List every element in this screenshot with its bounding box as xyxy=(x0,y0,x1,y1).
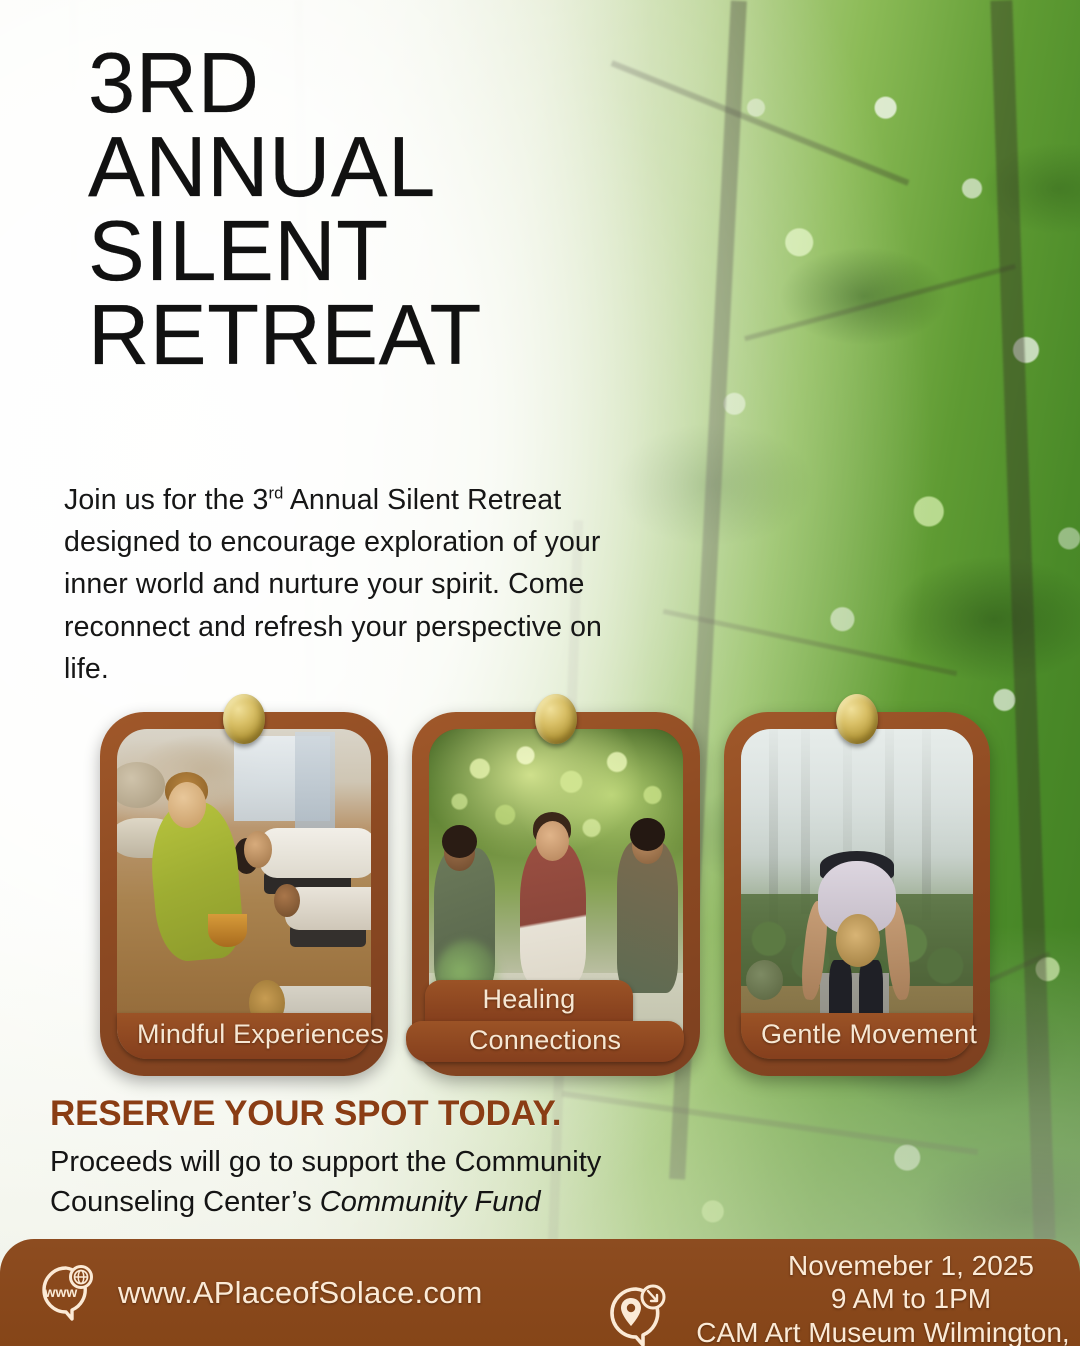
reserve-block: RESERVE YOUR SPOT TODAY. Proceeds will g… xyxy=(50,1094,730,1222)
footer-event-time: 9 AM to 1PM xyxy=(686,1282,1080,1315)
gold-pin-icon xyxy=(223,694,265,744)
card-label-gentle: Gentle Movement xyxy=(741,1013,973,1059)
photo-detail xyxy=(442,825,478,858)
svg-text:www: www xyxy=(44,1284,78,1300)
community-fund-emphasis: Community Fund xyxy=(320,1186,541,1218)
photo-detail xyxy=(746,960,783,1000)
poster-canvas: 3RD ANNUAL SILENT RETREAT Join us for th… xyxy=(0,0,1080,1346)
photo-detail xyxy=(168,782,206,828)
page-title: 3RD ANNUAL SILENT RETREAT xyxy=(88,42,482,379)
footer-event-details-group: Novemeber 1, 2025 9 AM to 1PM CAM Art Mu… xyxy=(600,1249,1080,1346)
photo-detail xyxy=(244,831,272,867)
card-photo-mindful xyxy=(117,729,371,1059)
card-photo-gentle xyxy=(741,729,973,1059)
ordinal-suffix: rd xyxy=(268,483,283,502)
card-label-mindful: Mindful Experiences xyxy=(117,1013,371,1059)
card-label-healing-line1: Healing xyxy=(425,980,633,1021)
footer-event-lines: Novemeber 1, 2025 9 AM to 1PM CAM Art Mu… xyxy=(686,1249,1080,1346)
reserve-heading: RESERVE YOUR SPOT TODAY. xyxy=(50,1094,730,1134)
photo-detail xyxy=(117,762,165,808)
photo-scene xyxy=(741,729,973,1059)
title-line-4: RETREAT xyxy=(88,294,482,378)
card-label-healing-line2: Connections xyxy=(406,1021,684,1062)
photo-detail xyxy=(259,828,371,878)
reserve-body: Proceeds will go to support the Communit… xyxy=(50,1142,730,1222)
map-pin-icon xyxy=(600,1278,670,1346)
card-label-healing: Healing Connections xyxy=(406,980,652,1062)
footer-event-venue: CAM Art Museum Wilmington, NC xyxy=(686,1316,1080,1346)
photo-detail xyxy=(836,914,880,967)
photo-detail xyxy=(295,732,336,838)
intro-paragraph: Join us for the 3rd Annual Silent Retrea… xyxy=(64,479,624,691)
footer-website-url[interactable]: www.APlaceofSolace.com xyxy=(118,1275,483,1311)
intro-text-pre: Join us for the 3 xyxy=(64,484,268,516)
photo-detail xyxy=(536,821,569,861)
photo-detail xyxy=(208,914,246,947)
footer-event-date: Novemeber 1, 2025 xyxy=(686,1249,1080,1282)
card-mindful-experiences[interactable]: Mindful Experiences xyxy=(100,712,388,1076)
footer-bar: www www.APlaceofSolace.com xyxy=(0,1239,1080,1346)
gold-pin-icon xyxy=(535,694,577,744)
gold-pin-icon xyxy=(836,694,878,744)
www-bubble-icon: www xyxy=(34,1259,96,1326)
card-gentle-movement[interactable]: Gentle Movement xyxy=(724,712,990,1076)
photo-card-row: Mindful Experiences xyxy=(0,712,1080,1080)
footer-website-group[interactable]: www www.APlaceofSolace.com xyxy=(34,1259,483,1326)
title-line-2: ANNUAL xyxy=(88,126,482,210)
photo-detail xyxy=(274,884,299,917)
title-line-1: 3RD xyxy=(88,42,482,126)
card-healing-connections[interactable]: Healing Connections xyxy=(412,712,700,1076)
photo-detail xyxy=(520,841,586,986)
photo-detail xyxy=(630,818,666,851)
photo-scene xyxy=(117,729,371,1059)
title-line-3: SILENT xyxy=(88,210,482,294)
